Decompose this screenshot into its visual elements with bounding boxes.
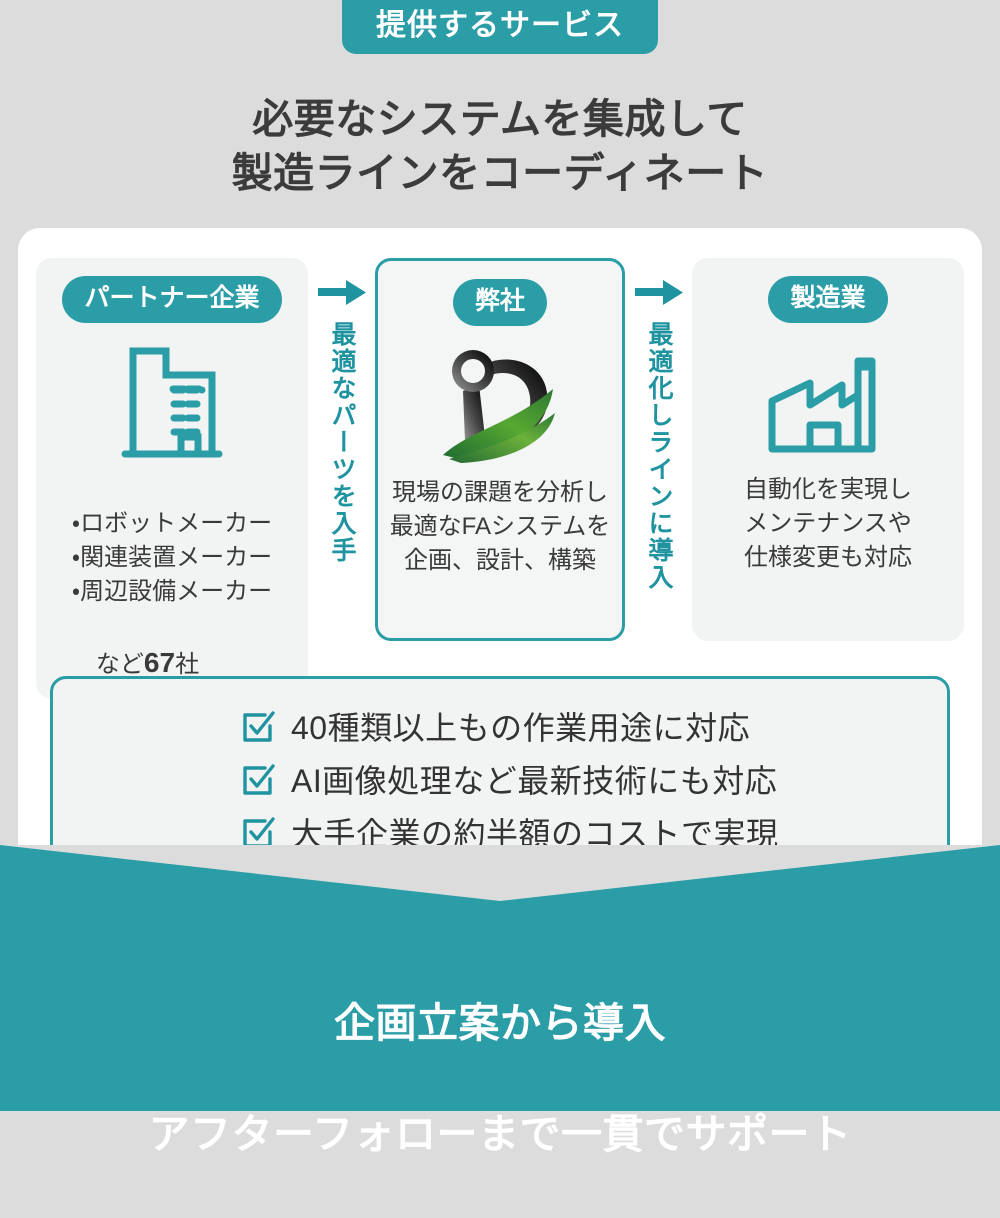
footer-banner: 企画立案から導入 アフターフォローまで一貫でサポート: [0, 845, 1000, 1111]
flow-card-company-badge: 弊社: [453, 279, 547, 326]
checklist-item-label: 40種類以上もの作業用途に対応: [291, 711, 750, 746]
process-flow: パートナー企業: [36, 258, 964, 648]
flow-card-company: 弊社: [375, 258, 625, 641]
page-title: 必要なシステムを集成して 製造ラインをコーディネート: [0, 92, 1000, 200]
flow-card-partner: パートナー企業: [36, 258, 308, 699]
page-title-line2: 製造ラインをコーディネート: [0, 146, 1000, 200]
footer-message-line2: アフターフォローまで一貫でサポート: [0, 1107, 1000, 1162]
page-title-line1: 必要なシステムを集成して: [0, 92, 1000, 146]
section-badge-label: 提供するサービス: [376, 9, 624, 42]
flow-connector-1-label: 最適なパーツを入手: [329, 321, 354, 564]
flow-connector-2: 最適化しラインに導入: [630, 258, 688, 591]
flow-card-company-text: 現場の課題を分析し 最適なFAシステムを 企画、設計、構築: [390, 476, 611, 578]
checklist-item-label: AI画像処理など最新技術にも対応: [291, 764, 777, 799]
flow-card-partner-badge: パートナー企業: [62, 276, 281, 323]
flow-connector-1: 最適なパーツを入手: [313, 258, 371, 564]
office-building-icon: [120, 335, 224, 467]
arrow-right-icon: [635, 280, 683, 311]
checkbox-checked-icon: [241, 763, 275, 802]
checkbox-checked-icon: [241, 710, 275, 749]
flow-connector-2-label: 最適化しラインに導入: [646, 321, 671, 591]
checklist-item: 40種類以上もの作業用途に対応: [241, 710, 947, 749]
factory-icon: [766, 335, 890, 467]
footer-message: 企画立案から導入 アフターフォローまで一貫でサポート: [0, 941, 1000, 1218]
flow-card-manufacturer: 製造業 自動化を実現し メンテナンスや 仕様変更も対応: [692, 258, 964, 641]
footer-message-line1: 企画立案から導入: [0, 996, 1000, 1051]
partner-count: 67: [144, 647, 175, 678]
content-panel: パートナー企業: [18, 228, 982, 898]
section-badge: 提供するサービス: [342, 0, 658, 54]
flow-card-partner-tail: など67社: [72, 651, 199, 678]
flow-card-manufacturer-text: 自動化を実現し メンテナンスや 仕様変更も対応: [744, 473, 912, 575]
footer-notch: [0, 845, 1000, 901]
arrow-right-icon: [318, 280, 366, 311]
company-logo-icon: [435, 338, 565, 470]
checklist-item: AI画像処理など最新技術にも対応: [241, 763, 947, 802]
flow-card-manufacturer-badge: 製造業: [768, 276, 887, 323]
flow-card-partner-list: ・ロボットメーカー ・関連装置メーカー ・周辺設備メーカー: [72, 510, 272, 605]
flow-card-partner-text: ・ロボットメーカー ・関連装置メーカー ・周辺設備メーカー など67社: [72, 473, 272, 683]
